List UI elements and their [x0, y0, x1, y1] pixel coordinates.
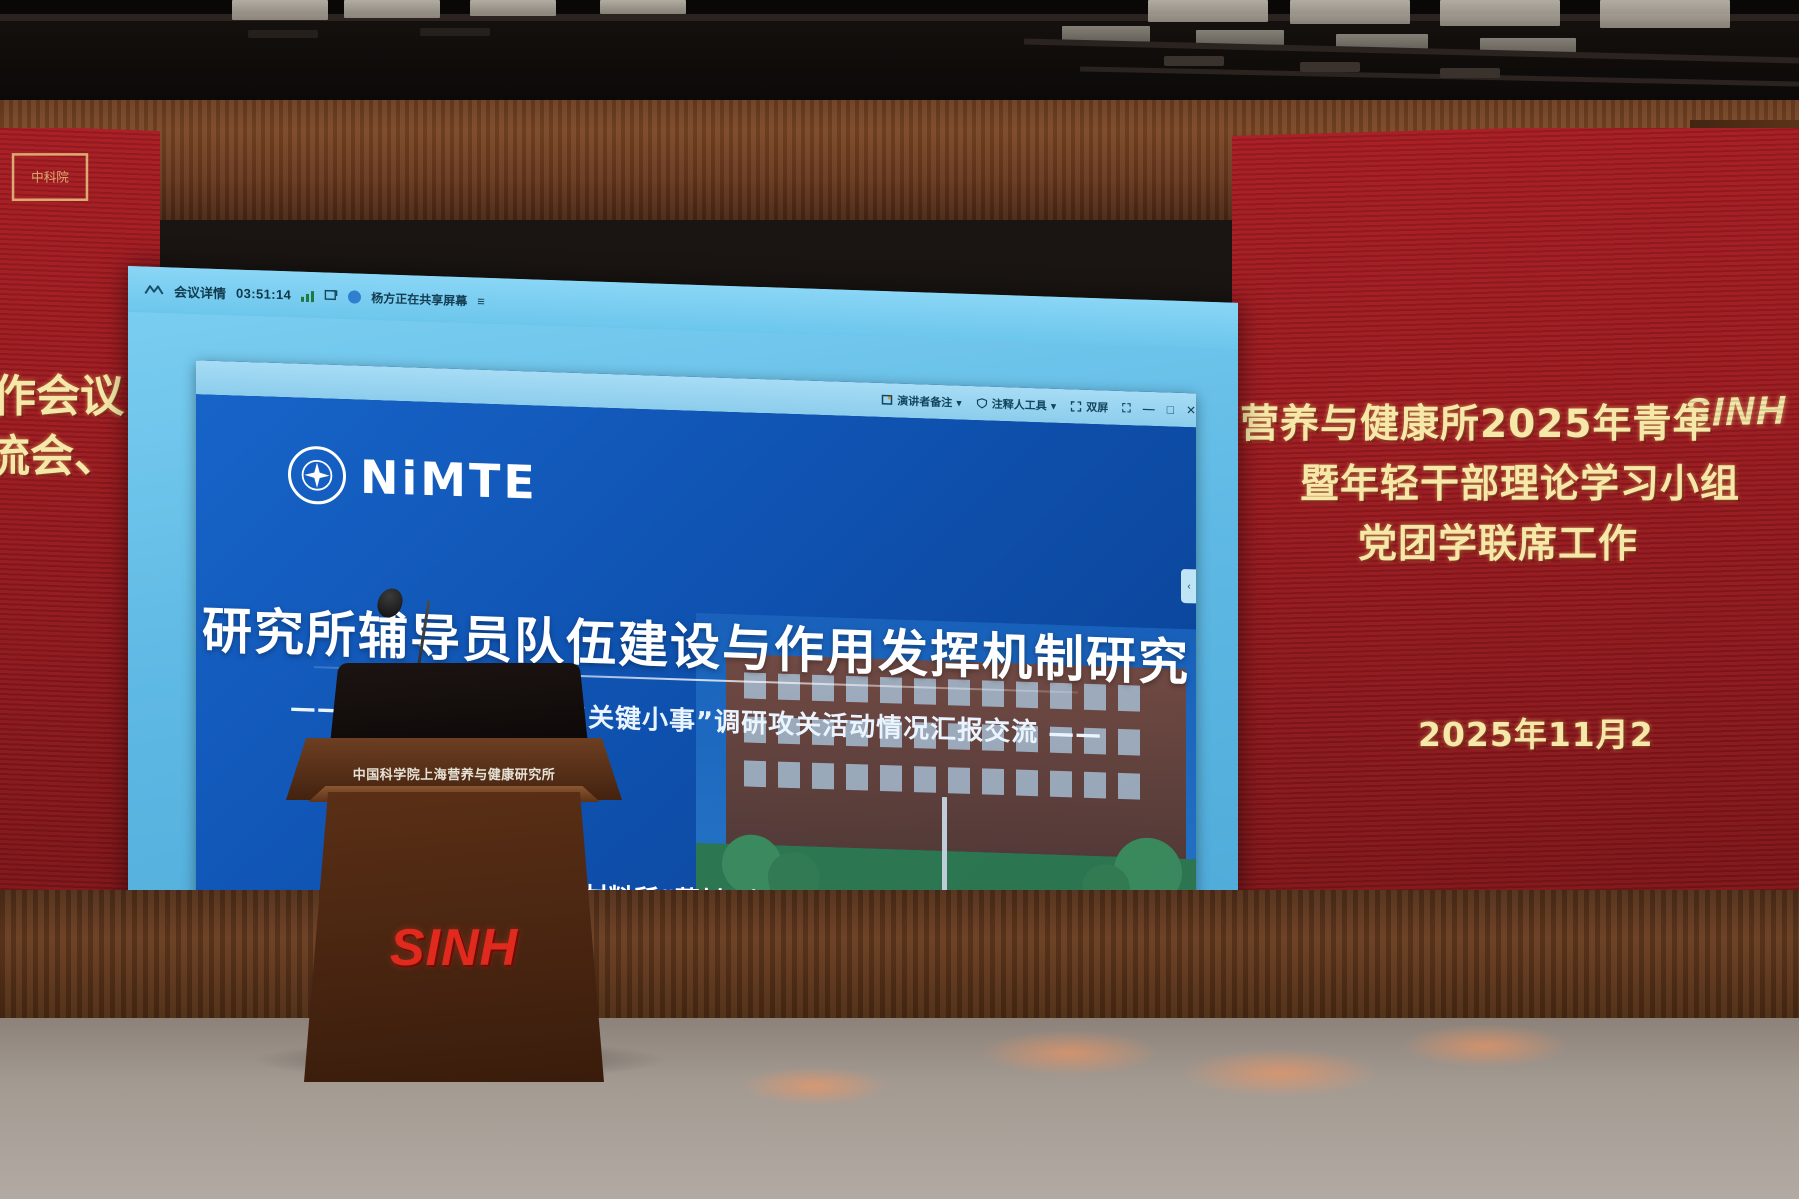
led-right-line-1: 营养与健康所2025年青年 — [1240, 393, 1713, 449]
nimte-brand: NiMTE — [288, 445, 538, 511]
led-right-date: 2025年11月2 — [1418, 708, 1654, 756]
window-minimize-button[interactable]: — — [1143, 401, 1155, 416]
podium: 中国科学院上海营养与健康研究所 SINH — [286, 660, 622, 1080]
sharer-avatar — [348, 290, 361, 303]
window-close-button[interactable]: ✕ — [1186, 403, 1196, 418]
annotation-tool-button[interactable]: 注释人工具 ▾ — [976, 395, 1057, 414]
window-maximize-button[interactable]: □ — [1167, 402, 1174, 417]
left-panel-emblem-icon: 中科院 — [4, 146, 96, 230]
meeting-details-label[interactable]: 会议详情 — [174, 281, 226, 302]
speaker-notes-button[interactable]: 演讲者备注 ▾ — [881, 392, 962, 411]
fullscreen-icon — [1070, 400, 1082, 412]
led-video-wall: SINH 营养与健康所2025年青年 暨年轻干部理论学习小组 党团学联席工作 2… — [0, 128, 1799, 918]
dual-screen-button[interactable]: 双屏 — [1070, 398, 1108, 415]
sharing-status-text: 杨方正在共享屏幕 — [371, 289, 467, 309]
signal-bars-icon[interactable] — [301, 288, 314, 301]
led-left-line-1: 作会议 — [0, 360, 124, 424]
nimte-wordmark: NiMTE — [360, 450, 538, 510]
podium-plaque: 中国科学院上海营养与健康研究所 — [336, 764, 572, 783]
meeting-elapsed-time: 03:51:14 — [236, 285, 291, 302]
speaker-notes-caret: ▾ — [956, 396, 962, 409]
led-left-line-2: 流会、 — [0, 420, 118, 484]
floor — [0, 1018, 1799, 1199]
annotation-tool-caret: ▾ — [1051, 399, 1057, 412]
annotation-tool-label: 注释人工具 — [992, 396, 1047, 414]
nimte-emblem-icon — [288, 445, 346, 505]
led-right-line-2: 暨年轻干部理论学习小组 — [1300, 453, 1740, 509]
tencent-meeting-icon — [144, 283, 164, 297]
speaker-notes-icon — [881, 394, 893, 406]
share-screen-icon[interactable] — [324, 289, 338, 303]
podium-logo-text: SINH — [390, 919, 518, 977]
dual-screen-label: 双屏 — [1086, 399, 1108, 416]
podium-logo: SINH — [286, 918, 622, 978]
window-fullscreen-button[interactable]: ⛶ — [1122, 400, 1130, 415]
photo-scene: SINH 营养与健康所2025年青年 暨年轻干部理论学习小组 党团学联席工作 2… — [0, 0, 1799, 1199]
meeting-more-icon[interactable]: ≡ — [477, 293, 485, 308]
shield-icon — [976, 397, 988, 409]
collapse-panel-handle[interactable]: ‹ — [1181, 569, 1196, 604]
speaker-notes-label: 演讲者备注 — [897, 393, 952, 411]
svg-text:中科院: 中科院 — [31, 170, 69, 184]
led-right-line-3: 党团学联席工作 — [1358, 513, 1638, 569]
